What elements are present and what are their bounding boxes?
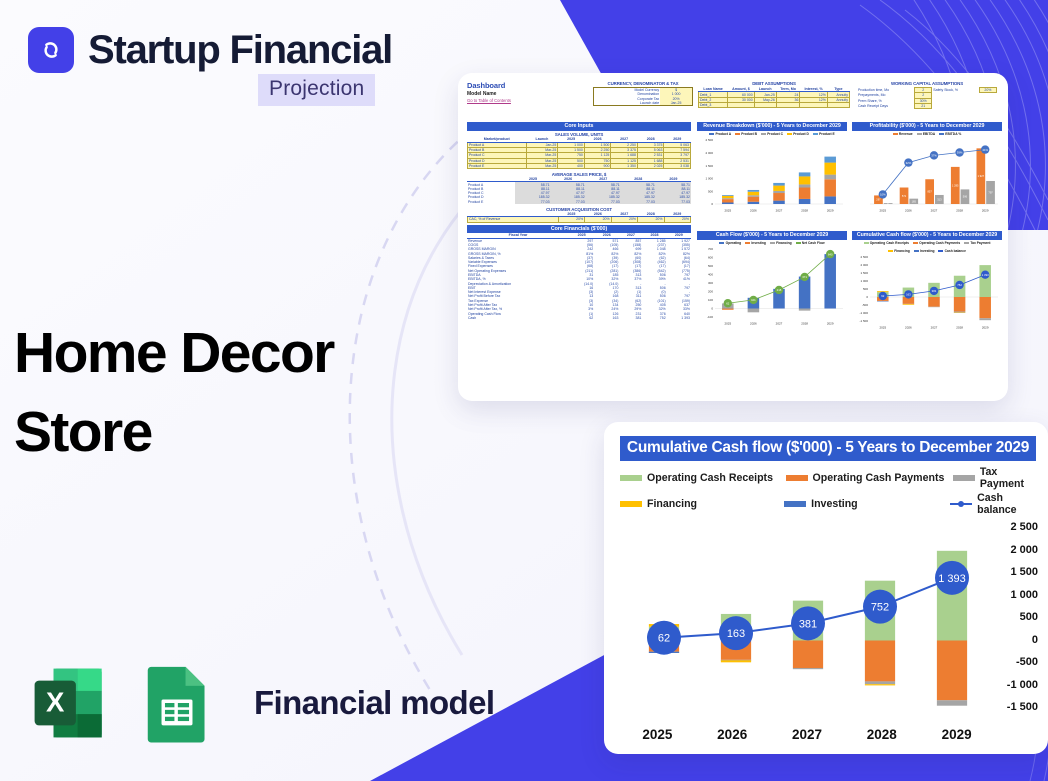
table-cell: 20% — [638, 217, 664, 222]
legend-swatch — [787, 133, 792, 135]
svg-text:2026: 2026 — [905, 209, 912, 213]
x-axis-tick: 2026 — [695, 727, 770, 742]
dashboard-title: Dashboard — [467, 81, 587, 90]
svg-text:2027: 2027 — [931, 209, 938, 213]
table-cell[interactable] — [979, 103, 996, 108]
svg-text:1 000: 1 000 — [705, 177, 713, 181]
svg-text:32%: 32% — [906, 161, 912, 165]
legend-swatch — [888, 250, 893, 252]
google-sheets-icon — [134, 660, 220, 746]
legend-label: Operating Cash Receipts — [647, 472, 773, 484]
svg-text:37%: 37% — [931, 154, 937, 158]
svg-text:752: 752 — [871, 602, 889, 614]
table-cell: 3 038 — [664, 163, 691, 168]
core-financials-table: Fiscal Year20252026202720282029Revenue29… — [467, 233, 691, 320]
profitability-chart: 297312025571185202685731320271 285506202… — [852, 136, 1002, 214]
svg-text:1 393: 1 393 — [982, 273, 989, 277]
svg-text:752: 752 — [957, 283, 962, 287]
svg-text:2026: 2026 — [905, 326, 912, 330]
legend-swatch — [893, 133, 898, 135]
legend-label: Investing — [811, 498, 858, 510]
table-cell — [776, 102, 800, 107]
svg-text:0: 0 — [866, 295, 868, 299]
excel-icon: X — [26, 660, 112, 746]
y-axis-tick: 500 — [1020, 611, 1038, 623]
x-axis-tick: 2025 — [620, 727, 695, 742]
svg-text:2025: 2025 — [724, 322, 731, 326]
svg-text:2029: 2029 — [827, 322, 834, 326]
cac-table: 20252026202720282029CAC, % of Revenue20%… — [467, 212, 691, 223]
svg-text:1 000: 1 000 — [860, 279, 868, 283]
svg-text:185: 185 — [912, 200, 917, 204]
svg-text:1 500: 1 500 — [860, 271, 868, 275]
format-badges: X Financial model — [26, 660, 494, 746]
wc-block-header: WORKING CAPITAL ASSUMPTIONS — [857, 81, 997, 86]
y-axis-tick: 0 — [1032, 634, 1038, 646]
cumulative-cash-flow-card: Cumulative Cash flow ($'000) - 5 Years t… — [604, 422, 1048, 754]
avg-price-table: 20252026202720282029Product A58.7158.715… — [467, 177, 691, 204]
table-cell: 752 — [642, 316, 666, 320]
poster-canvas: Startup Financial Projection Home Decor … — [0, 0, 1048, 781]
brand-name: Startup Financial — [88, 30, 392, 70]
svg-text:640: 640 — [828, 253, 833, 257]
legend-swatch — [864, 242, 869, 244]
svg-text:62: 62 — [726, 302, 730, 306]
table-cell[interactable]: Jan-25 — [660, 101, 692, 106]
table-row: Product E77.0377.0377.0377.0377.03 — [467, 200, 691, 204]
cumulative-plot-svg: 621633817521 393 — [620, 524, 994, 714]
svg-text:2028: 2028 — [801, 322, 808, 326]
table-cell — [728, 102, 754, 107]
svg-text:163: 163 — [906, 293, 911, 297]
debt-table: Loan NameAmount, $LaunchTerm, MoInterest… — [698, 87, 850, 108]
svg-text:797: 797 — [988, 191, 993, 195]
svg-text:2025: 2025 — [879, 326, 886, 330]
table-cell: 77.03 — [621, 200, 656, 204]
svg-text:101: 101 — [751, 298, 756, 302]
svg-text:500: 500 — [708, 264, 713, 268]
svg-text:2029: 2029 — [982, 326, 989, 330]
cumulative-chart-small: 2 5002 0001 5001 0005000-500-1 000-1 500… — [852, 253, 1002, 331]
svg-text:2028: 2028 — [956, 326, 963, 330]
legend-swatch — [620, 475, 642, 481]
legend-swatch — [761, 133, 766, 135]
model-name-label: Model Name — [467, 91, 587, 97]
legend-swatch — [939, 133, 944, 135]
table-cell: Cash — [467, 316, 569, 320]
svg-text:600: 600 — [708, 256, 713, 260]
svg-text:500: 500 — [863, 287, 868, 291]
cash-flow-chart: -100010020030040050060070020252026202720… — [697, 245, 847, 327]
svg-text:2 000: 2 000 — [705, 151, 713, 155]
table-cell: 2 025 — [637, 163, 664, 168]
legend-swatch — [784, 501, 806, 507]
legend-swatch — [620, 501, 642, 507]
svg-text:1 927: 1 927 — [978, 174, 985, 178]
debt-block-header: DEBT ASSUMPTIONS — [698, 81, 850, 86]
svg-text:2028: 2028 — [956, 209, 963, 213]
legend-item-tax-payment: Tax Payment — [953, 466, 1038, 490]
table-cell: Mar-25 — [526, 163, 558, 168]
svg-text:2027: 2027 — [776, 209, 783, 213]
legend-swatch — [953, 475, 975, 481]
currency-table: Model Currency$Denomination1 000Corporat… — [593, 87, 693, 106]
svg-text:0: 0 — [711, 307, 713, 311]
svg-text:500: 500 — [708, 190, 713, 194]
svg-text:X: X — [46, 687, 65, 718]
table-cell: 77.03 — [586, 200, 621, 204]
svg-text:381: 381 — [932, 289, 937, 293]
legend-item-financing: Financing — [620, 492, 784, 516]
legend-swatch — [735, 133, 740, 135]
legend-swatch — [745, 242, 750, 244]
svg-text:506: 506 — [963, 195, 968, 199]
svg-text:-1 000: -1 000 — [859, 311, 868, 315]
table-row: Product EMar-254009001 3502 0253 038 — [468, 163, 691, 168]
legend-label: Financing — [647, 498, 697, 510]
table-cell: 20% — [558, 217, 584, 222]
y-axis-tick: -500 — [1016, 656, 1038, 668]
table-cell: CAC, % of Revenue — [468, 217, 559, 222]
table-row: Cash621633817521 393 — [467, 316, 691, 320]
legend-item: Operating Cash Payments — [913, 241, 960, 245]
table-row: CAC, % of Revenue20%20%20%20%20% — [468, 217, 691, 222]
svg-text:2027: 2027 — [776, 322, 783, 326]
svg-text:2026: 2026 — [750, 209, 757, 213]
y-axis-tick: 2 000 — [1010, 544, 1038, 556]
table-cell: Debt_3 — [699, 102, 728, 107]
svg-text:39%: 39% — [957, 151, 963, 155]
swirl-logo-glyph — [36, 35, 66, 65]
x-axis-tick: 2028 — [844, 727, 919, 742]
svg-text:218: 218 — [777, 288, 782, 292]
table-cell: 163 — [594, 316, 619, 320]
svg-text:371: 371 — [802, 275, 807, 279]
svg-text:313: 313 — [937, 198, 942, 202]
svg-text:300: 300 — [708, 281, 713, 285]
table-cell — [800, 102, 827, 107]
table-cell: 900 — [584, 163, 611, 168]
legend-swatch — [786, 475, 808, 481]
svg-text:100: 100 — [708, 298, 713, 302]
svg-text:10%: 10% — [880, 193, 886, 197]
svg-text:41%: 41% — [982, 148, 988, 152]
table-cell: 77.03 — [656, 200, 691, 204]
svg-text:2027: 2027 — [931, 326, 938, 330]
legend-swatch — [719, 242, 724, 244]
table-cell: 20% — [664, 217, 691, 222]
svg-text:200: 200 — [708, 290, 713, 294]
svg-text:0: 0 — [711, 202, 713, 206]
table-cell: Cash Receipt Days — [857, 103, 915, 108]
legend-line-marker — [950, 501, 972, 507]
legend-label: Cash balance — [977, 492, 1038, 516]
table-row: Cash Receipt Days21 — [857, 103, 997, 108]
table-cell: 381 — [619, 316, 642, 320]
y-axis-tick: -1 000 — [1007, 679, 1038, 691]
legend-label: Operating Cash Payments — [813, 472, 945, 484]
svg-text:2 500: 2 500 — [705, 138, 713, 142]
svg-text:-500: -500 — [862, 303, 868, 307]
table-cell: 1 350 — [611, 163, 638, 168]
dashboard-sheet: Dashboard Model Name Go to Table of Cont… — [465, 81, 1001, 395]
legend-item-operating-receipts: Operating Cash Receipts — [620, 466, 786, 490]
svg-text:1 500: 1 500 — [705, 164, 713, 168]
revenue-breakdown-chart: 05001 0001 5002 0002 5002025202620272028… — [697, 136, 847, 214]
svg-text:571: 571 — [902, 194, 907, 198]
legend-swatch — [917, 133, 922, 135]
legend-item-operating-payments: Operating Cash Payments — [786, 466, 953, 490]
table-cell: 62 — [569, 316, 594, 320]
cumulative-legend-small: Operating Cash ReceiptsOperating Cash Pa… — [852, 241, 1002, 253]
y-axis-labels: 2 5002 0001 5001 0005000-500-1 000-1 500 — [984, 524, 1038, 714]
svg-text:62: 62 — [658, 633, 670, 645]
table-cell[interactable]: 21 — [915, 103, 932, 108]
table-cell: Launch date — [594, 101, 661, 106]
legend-label: Tax Payment — [980, 466, 1038, 490]
svg-text:2026: 2026 — [750, 322, 757, 326]
working-capital-table: Production time, Mo2Safety Stock, %20%Pr… — [857, 87, 997, 109]
svg-text:2 000: 2 000 — [860, 263, 868, 267]
table-cell: 20% — [611, 217, 637, 222]
legend-swatch — [914, 250, 919, 252]
legend-swatch — [796, 242, 801, 244]
brand-header: Startup Financial — [28, 27, 392, 73]
core-inputs-band: Core Inputs — [467, 122, 691, 131]
brand-logo-icon — [28, 27, 74, 73]
svg-text:2025: 2025 — [879, 209, 886, 213]
table-row: Debt_3 — [699, 102, 850, 107]
svg-text:2029: 2029 — [982, 209, 989, 213]
svg-text:400: 400 — [708, 273, 713, 277]
toc-link[interactable]: Go to Table of Contents — [467, 98, 587, 103]
cumulative-title-small: Cumulative Cash flow ($'000) - 5 Years t… — [852, 231, 1002, 240]
svg-text:-100: -100 — [707, 315, 713, 319]
x-axis-tick: 2029 — [919, 727, 994, 742]
table-cell — [932, 103, 980, 108]
svg-text:2028: 2028 — [801, 209, 808, 213]
legend-swatch — [770, 242, 775, 244]
revenue-breakdown-title: Revenue Breakdown ($'000) - 5 Years to D… — [697, 122, 847, 131]
table-row: Launch dateJan-25 — [594, 101, 693, 106]
profitability-title: Profitability ($'000) - 5 Years to Decem… — [852, 122, 1002, 131]
y-axis-tick: -1 500 — [1007, 701, 1038, 713]
table-cell: 1 393 — [667, 316, 691, 320]
svg-text:700: 700 — [708, 247, 713, 251]
svg-text:2029: 2029 — [827, 209, 834, 213]
table-cell: 77.03 — [551, 200, 586, 204]
brand-subtitle: Projection — [258, 74, 375, 106]
svg-text:297: 297 — [876, 198, 881, 202]
legend-item-investing: Investing — [784, 492, 950, 516]
table-cell: 77.03 — [515, 200, 550, 204]
y-axis-tick: 2 500 — [1010, 521, 1038, 533]
y-axis-tick: 1 500 — [1010, 566, 1038, 578]
legend-item: Operating Cash Receipts — [864, 241, 909, 245]
svg-text:2025: 2025 — [724, 209, 731, 213]
legend-swatch — [938, 250, 943, 252]
svg-text:857: 857 — [927, 190, 932, 194]
legend-swatch — [913, 242, 918, 244]
x-axis-labels: 20252026202720282029 — [620, 727, 994, 742]
svg-text:381: 381 — [799, 618, 817, 630]
legend-item: Tax Payment — [964, 241, 990, 245]
x-axis-tick: 2027 — [770, 727, 845, 742]
cumulative-cash-flow-legend: Operating Cash Receipts Operating Cash P… — [620, 466, 1038, 516]
table-cell: 400 — [558, 163, 585, 168]
cash-flow-title: Cash Flow ($'000) - 5 Years to December … — [697, 231, 847, 240]
table-cell: Product E — [467, 200, 515, 204]
cumulative-cash-flow-title: Cumulative Cash flow ($'000) - 5 Years t… — [620, 436, 1036, 461]
dashboard-screenshot-card: Dashboard Model Name Go to Table of Cont… — [458, 73, 1008, 401]
badge-label: Financial model — [254, 684, 494, 722]
legend-swatch — [964, 242, 969, 244]
legend-swatch — [709, 133, 714, 135]
table-cell: Product E — [468, 163, 527, 168]
page-title: Home Decor Store — [14, 314, 414, 471]
svg-text:163: 163 — [727, 628, 745, 640]
table-cell: 20% — [585, 217, 611, 222]
svg-text:-1 500: -1 500 — [859, 319, 868, 323]
sales-volume-table: Market/productLaunch20252026202720282029… — [467, 137, 691, 169]
core-financials-band: Core Financials ($'000) — [467, 225, 691, 234]
svg-text:1 393: 1 393 — [938, 573, 966, 585]
currency-block-header: CURRENCY, DENOMINATOR & TAX — [593, 81, 693, 86]
svg-text:1 285: 1 285 — [952, 184, 959, 188]
svg-text:62: 62 — [881, 294, 885, 298]
legend-item-cash-balance: Cash balance — [950, 492, 1038, 516]
cumulative-cash-flow-plot: 621633817521 393 2 5002 0001 5001 000500… — [620, 524, 1038, 742]
svg-text:2 500: 2 500 — [860, 255, 868, 259]
table-cell — [754, 102, 776, 107]
legend-swatch — [813, 133, 818, 135]
table-cell — [827, 102, 849, 107]
y-axis-tick: 1 000 — [1010, 589, 1038, 601]
